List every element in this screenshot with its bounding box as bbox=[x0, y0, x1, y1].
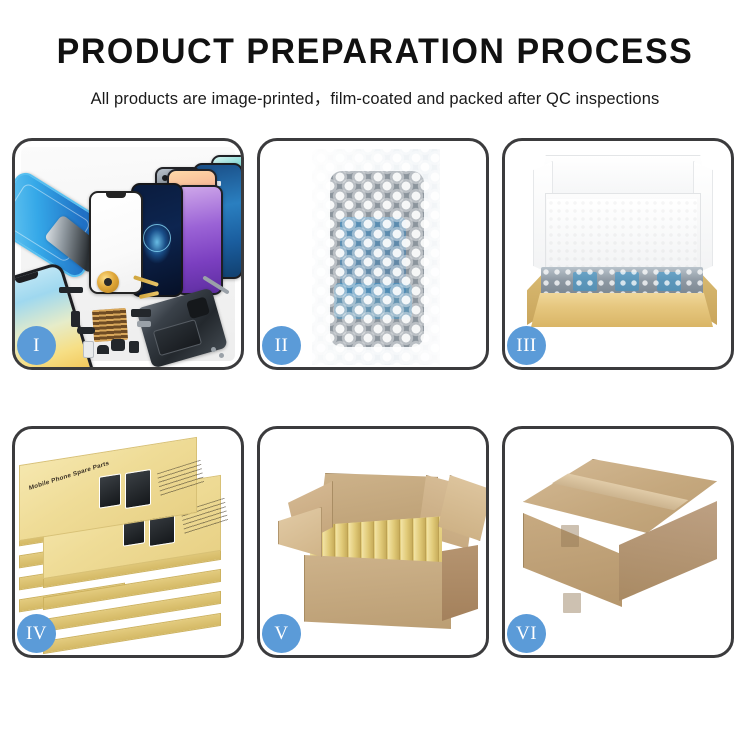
carton-front-wall bbox=[304, 555, 451, 629]
page-subtitle: All products are image-printed，film-coat… bbox=[0, 69, 750, 109]
packed-product bbox=[541, 267, 703, 297]
bubble-texture bbox=[312, 149, 440, 365]
page-title: PRODUCT PREPARATION PROCESS bbox=[11, 34, 739, 69]
foam-padding bbox=[547, 199, 697, 267]
retail-box bbox=[43, 627, 219, 645]
retail-box-printed: Mobile Phone Spare Parts bbox=[19, 451, 195, 525]
packed-retail-box bbox=[427, 517, 439, 566]
small-part bbox=[71, 311, 80, 327]
process-step-1[interactable]: I bbox=[12, 138, 244, 370]
box-label-phone-image bbox=[125, 469, 151, 509]
small-part bbox=[111, 339, 125, 351]
carton-scuff-mark bbox=[561, 525, 579, 547]
carton-side-wall bbox=[442, 545, 478, 621]
box-front-wall bbox=[531, 293, 713, 327]
carton-scuff-mark bbox=[563, 593, 581, 613]
packed-retail-box bbox=[401, 518, 413, 567]
process-step-5[interactable]: V bbox=[257, 426, 489, 658]
packed-retail-box bbox=[414, 518, 426, 567]
small-part bbox=[137, 321, 151, 327]
process-step-2[interactable]: II bbox=[257, 138, 489, 370]
small-part bbox=[131, 309, 151, 317]
bubble-wrap-sheet bbox=[312, 149, 440, 365]
process-step-grid: I II bbox=[12, 138, 738, 658]
step-number-badge: VI bbox=[507, 614, 546, 653]
process-step-4[interactable]: Mobile Phone Spare Parts Mobile Phone Sp… bbox=[12, 426, 244, 658]
phone-back-housing bbox=[136, 287, 228, 367]
battery-part bbox=[153, 319, 202, 356]
bubble-texture bbox=[541, 267, 703, 297]
small-part bbox=[83, 341, 94, 358]
camera-module-part bbox=[186, 296, 210, 319]
small-part bbox=[129, 341, 139, 353]
step-number-badge: II bbox=[262, 326, 301, 365]
step-number-badge: IV bbox=[17, 614, 56, 653]
small-part bbox=[77, 327, 95, 334]
chip-grid-part bbox=[92, 308, 128, 342]
process-step-3[interactable]: III bbox=[502, 138, 734, 370]
speaker-coil-part bbox=[97, 271, 119, 293]
step-number-badge: III bbox=[507, 326, 546, 365]
process-step-6[interactable]: VI bbox=[502, 426, 734, 658]
step-number-badge: V bbox=[262, 614, 301, 653]
step-number-badge: I bbox=[17, 326, 56, 365]
small-part bbox=[97, 345, 109, 354]
screw-part bbox=[211, 347, 216, 352]
screw-part bbox=[219, 353, 224, 358]
box-label-phone-image bbox=[99, 473, 121, 508]
small-part bbox=[59, 287, 83, 293]
page-header: PRODUCT PREPARATION PROCESS All products… bbox=[0, 0, 750, 109]
